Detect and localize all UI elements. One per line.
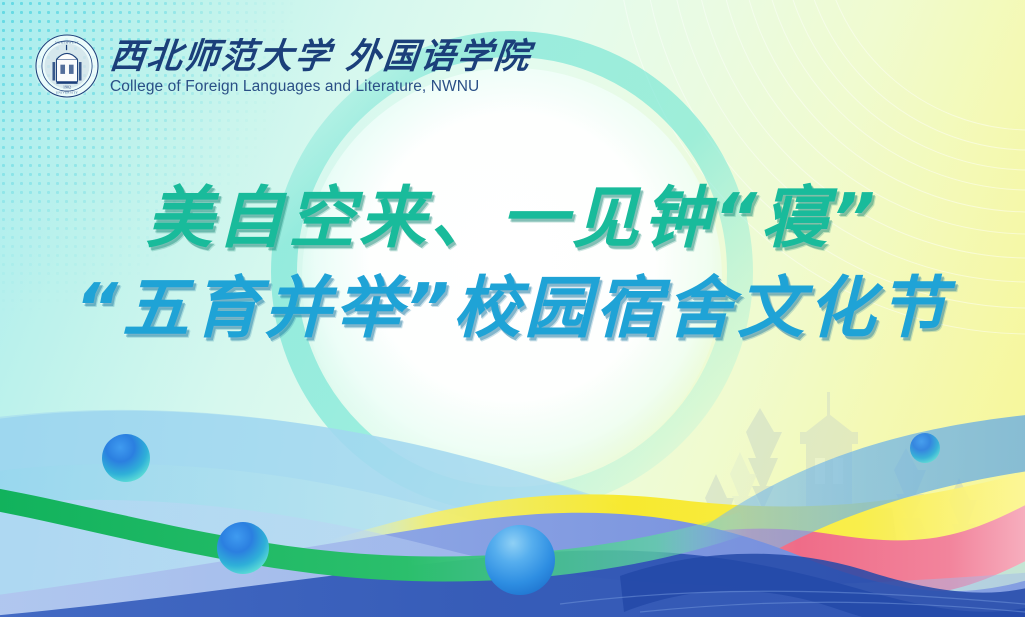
green-ribbon-wave [0, 487, 748, 582]
event-banner: NORTHWEST UNIVERSITY 1902 西北师范大学 外国语学院 C… [0, 0, 1025, 617]
sphere-large-center [485, 525, 555, 595]
event-title: 美自空来、一见钟“寝” “五育并举”校园宿舍文化节 [0, 176, 1025, 350]
wave-sky-right [660, 414, 1025, 592]
svg-text:UNIVERSITY: UNIVERSITY [56, 91, 79, 95]
institution-name-cn: 西北师范大学 外国语学院 [108, 38, 533, 75]
stone-monument-silhouette [832, 508, 902, 596]
wave-periwinkle [0, 513, 1025, 617]
sphere-small-right [910, 433, 940, 463]
title-line-2: “五育并举”校园宿舍文化节 [0, 266, 1025, 350]
university-logo: NORTHWEST UNIVERSITY 1902 西北师范大学 外国语学院 C… [34, 33, 531, 99]
wave-yellow [330, 470, 1025, 586]
wave-navy-deep [620, 554, 1025, 617]
wave-pink [560, 500, 1025, 617]
title-line-1: 美自空来、一见钟“寝” [0, 176, 1025, 260]
wave-pale-blue-lens [0, 410, 1025, 611]
svg-text:NORTHWEST: NORTHWEST [55, 41, 80, 45]
bell-tower-silhouette [800, 392, 858, 542]
wave-lilac [0, 500, 1025, 617]
sphere-mid-left [217, 522, 269, 574]
institution-name-en: College of Foreign Languages and Literat… [110, 78, 531, 97]
wave-pale-blue [0, 411, 1025, 617]
wave-navy [0, 550, 1025, 617]
wave-hairlines [560, 591, 1025, 612]
seal-year: 1902 [63, 84, 71, 89]
sphere-small-left [102, 434, 150, 482]
university-seal-icon: NORTHWEST UNIVERSITY 1902 [34, 33, 100, 99]
pine-tree-silhouette [705, 408, 986, 548]
